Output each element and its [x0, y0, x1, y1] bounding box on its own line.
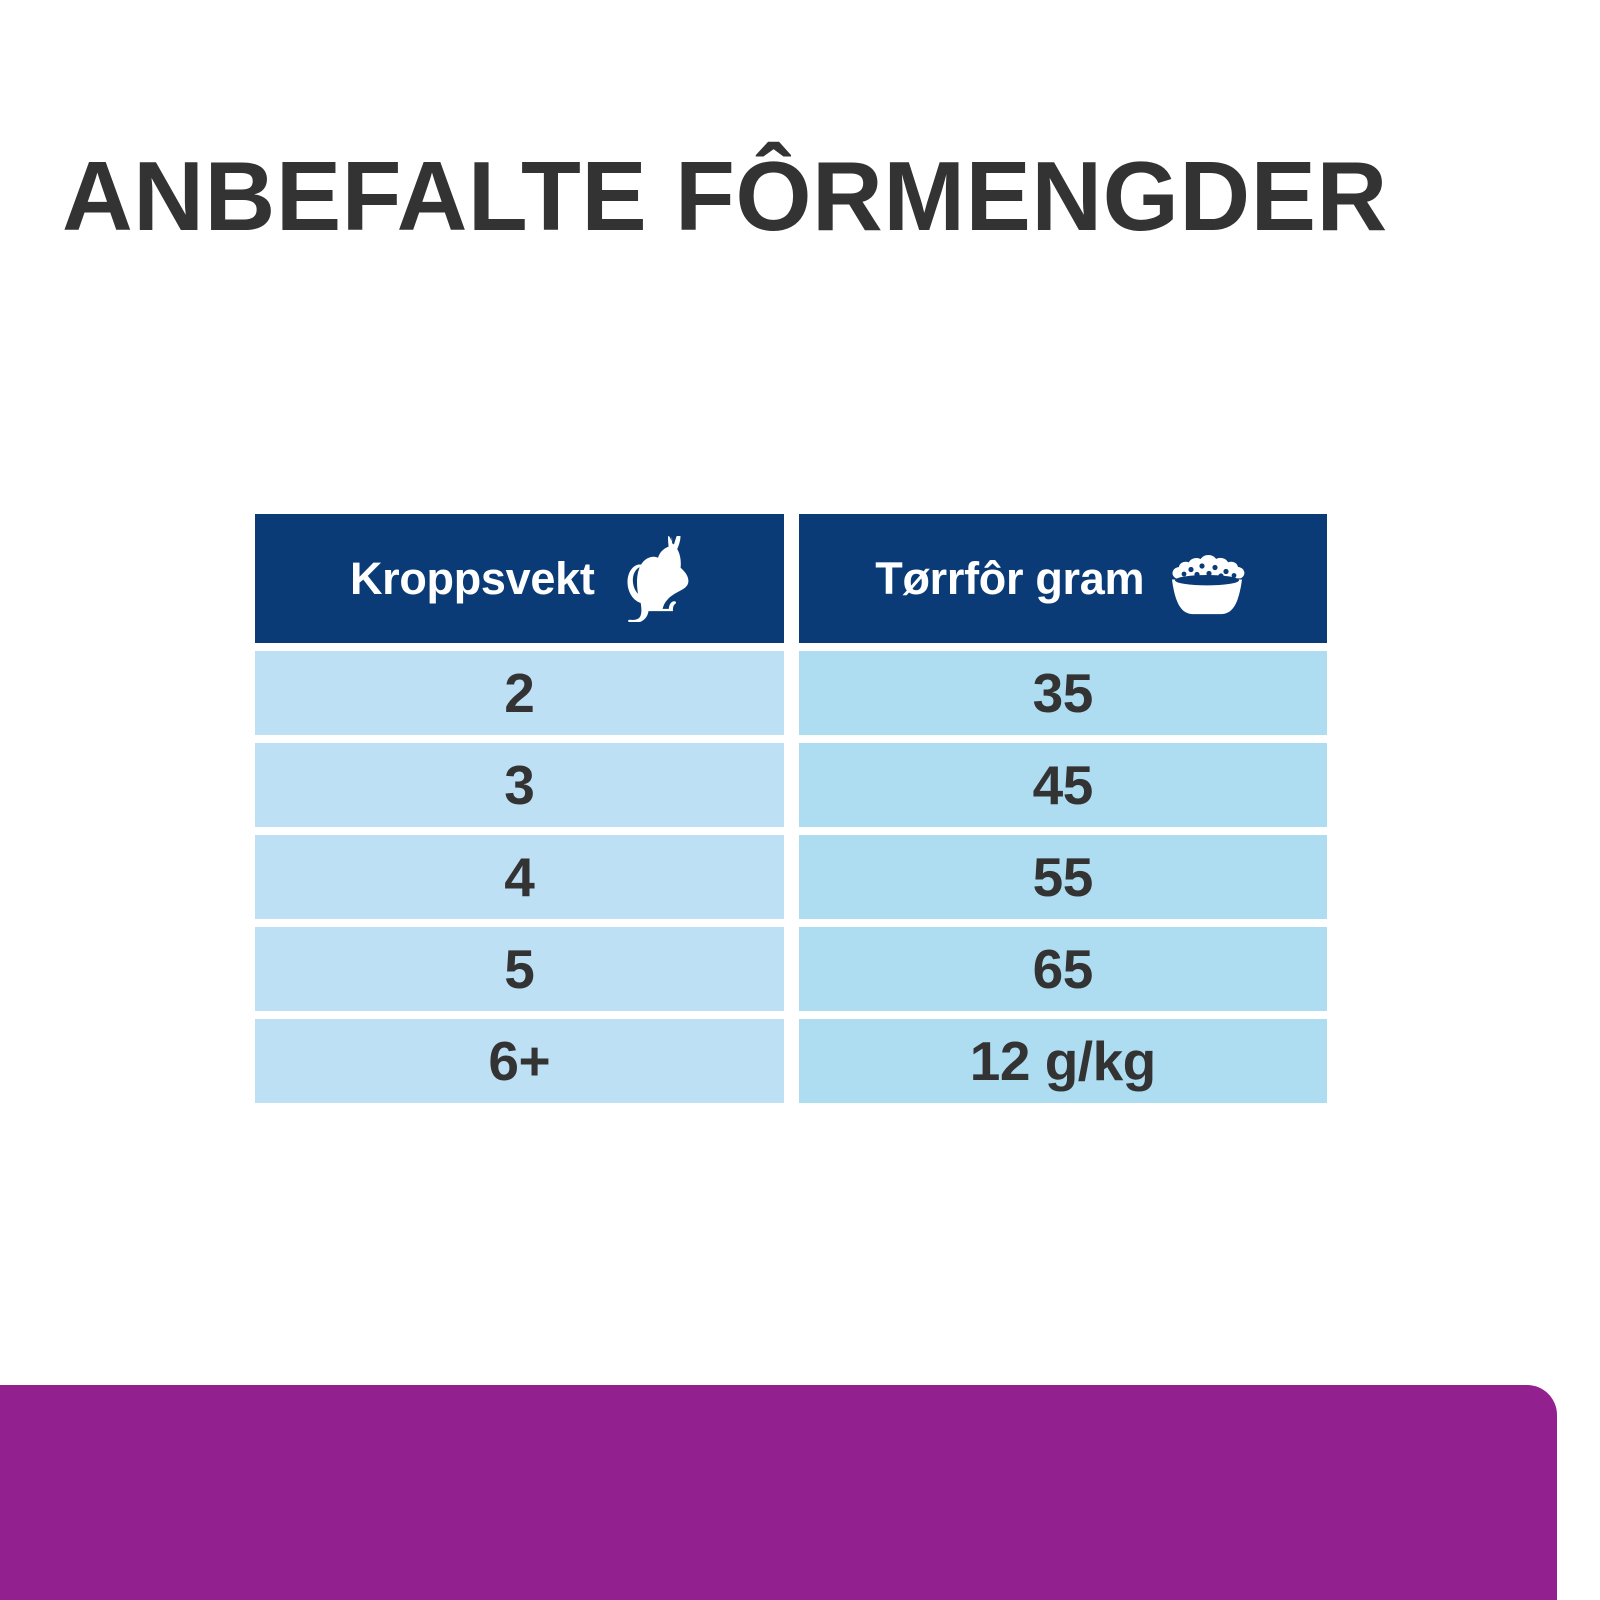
table-row: 4 55: [255, 835, 1327, 919]
cell-bodyweight: 3: [255, 743, 784, 827]
dryfood-value: 45: [1033, 758, 1093, 813]
cat-icon: [615, 536, 689, 622]
cell-bodyweight: 6+: [255, 1019, 784, 1103]
food-bowl-icon: [1164, 542, 1250, 616]
bodyweight-value: 5: [504, 942, 534, 997]
cell-dryfood: 12 g/kg: [799, 1019, 1328, 1103]
table-header-row: Kroppsvekt Tørrfôr gram: [255, 514, 1327, 643]
bodyweight-value: 3: [504, 758, 534, 813]
cell-bodyweight: 5: [255, 927, 784, 1011]
dryfood-column-label: Tørrfôr gram: [875, 556, 1144, 601]
dryfood-value: 65: [1033, 942, 1093, 997]
cell-dryfood: 65: [799, 927, 1328, 1011]
bodyweight-value: 6+: [488, 1034, 550, 1089]
cell-bodyweight: 2: [255, 651, 784, 735]
table-row: 5 65: [255, 927, 1327, 1011]
feeding-amounts-table: Kroppsvekt Tørrfôr gram: [255, 514, 1327, 1103]
table-row: 6+ 12 g/kg: [255, 1019, 1327, 1103]
bodyweight-column-label: Kroppsvekt: [350, 556, 595, 601]
bodyweight-value: 4: [504, 850, 534, 905]
cell-dryfood: 45: [799, 743, 1328, 827]
dryfood-value: 35: [1033, 666, 1093, 721]
footer-accent-band: [0, 1385, 1557, 1600]
table-row: 3 45: [255, 743, 1327, 827]
table-row: 2 35: [255, 651, 1327, 735]
table-header-cell-bodyweight: Kroppsvekt: [255, 514, 784, 643]
dryfood-value: 55: [1033, 850, 1093, 905]
table-header-cell-dryfood: Tørrfôr gram: [799, 514, 1328, 643]
bodyweight-value: 2: [504, 666, 534, 721]
feeding-guide-panel: ANBEFALTE FÔRMENGDER Kroppsvekt Tørrfôr …: [0, 0, 1600, 1600]
cell-dryfood: 35: [799, 651, 1328, 735]
cell-bodyweight: 4: [255, 835, 784, 919]
page-title: ANBEFALTE FÔRMENGDER: [62, 142, 1542, 250]
cell-dryfood: 55: [799, 835, 1328, 919]
dryfood-value: 12 g/kg: [970, 1034, 1156, 1089]
